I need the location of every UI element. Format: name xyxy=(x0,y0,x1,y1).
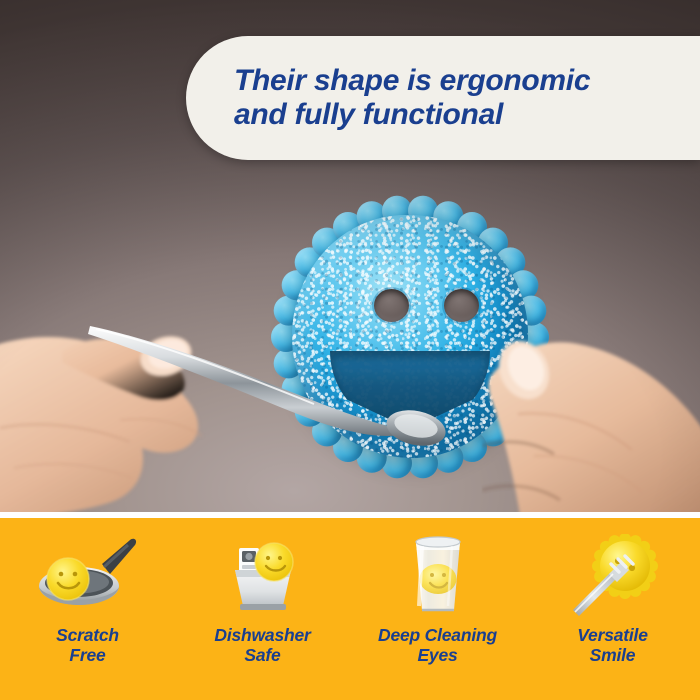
sponge-eye-right xyxy=(444,289,479,322)
feature-item-dishwasher-safe: Dishwasher Safe xyxy=(175,518,350,700)
left-hand xyxy=(0,300,270,517)
frying-pan-with-sponge-icon xyxy=(34,534,142,618)
product-photo: Their shape is ergonomic and fully funct… xyxy=(0,0,700,517)
feature-item-deep-cleaning-eyes: Deep Cleaning Eyes xyxy=(350,518,525,700)
product-marketing-image: Their shape is ergonomic and fully funct… xyxy=(0,0,700,700)
feature-label: Scratch Free xyxy=(56,626,119,665)
feature-item-versatile-smile: Versatile Smile xyxy=(525,518,700,700)
feature-item-scratch-free: Scratch Free xyxy=(0,518,175,700)
feature-label: Dishwasher Safe xyxy=(214,626,310,665)
dishwasher-basket-with-sponge-icon xyxy=(209,534,317,618)
feature-strip: Scratch Free xyxy=(0,518,700,700)
feature-label: Deep Cleaning Eyes xyxy=(378,626,497,665)
fork-with-sponge-icon xyxy=(559,534,667,618)
page-title: Their shape is ergonomic and fully funct… xyxy=(234,64,590,132)
feature-label: Versatile Smile xyxy=(577,626,648,665)
drinking-glass-with-sponge-icon xyxy=(384,534,492,618)
sponge-eye-left xyxy=(374,289,409,322)
right-hand xyxy=(482,326,700,517)
headline-banner: Their shape is ergonomic and fully funct… xyxy=(186,36,700,160)
